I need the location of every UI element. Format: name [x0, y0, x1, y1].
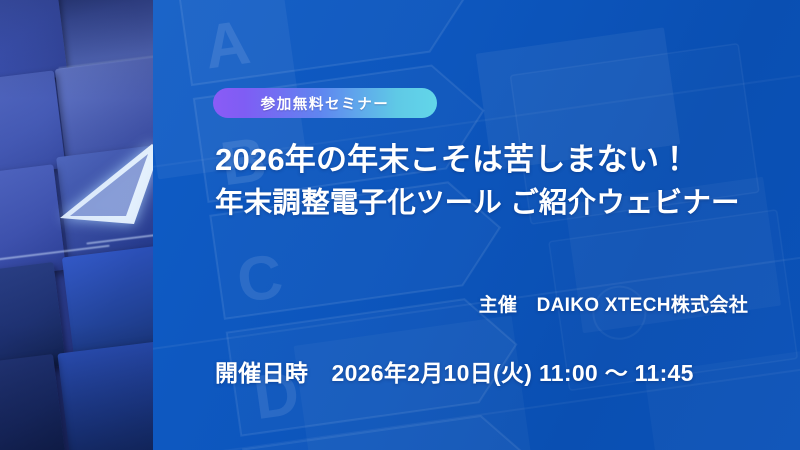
headline-line-2: 年末調整電子化ツール ご紹介ウェビナー [215, 180, 800, 221]
host-organization: 主催 DAIKO XTECH株式会社 [479, 290, 748, 317]
free-seminar-badge: 参加無料セミナー [213, 88, 437, 118]
badge-label: 参加無料セミナー [261, 93, 390, 114]
left-cube-image-panel [0, 0, 153, 450]
banner-content: 参加無料セミナー 2026年の年末こそは苦しまない！ 年末調整電子化ツール ご紹… [153, 0, 800, 450]
webinar-banner: A B C D E [0, 0, 800, 450]
schedule-datetime: 開催日時 2026年2月10日(火) 11:00 〜 11:45 [215, 354, 694, 388]
photo-vignette [0, 0, 153, 450]
headline-line-1: 2026年の年末こそは苦しまない！ [215, 134, 800, 179]
content-panel: A B C D E [153, 0, 800, 450]
